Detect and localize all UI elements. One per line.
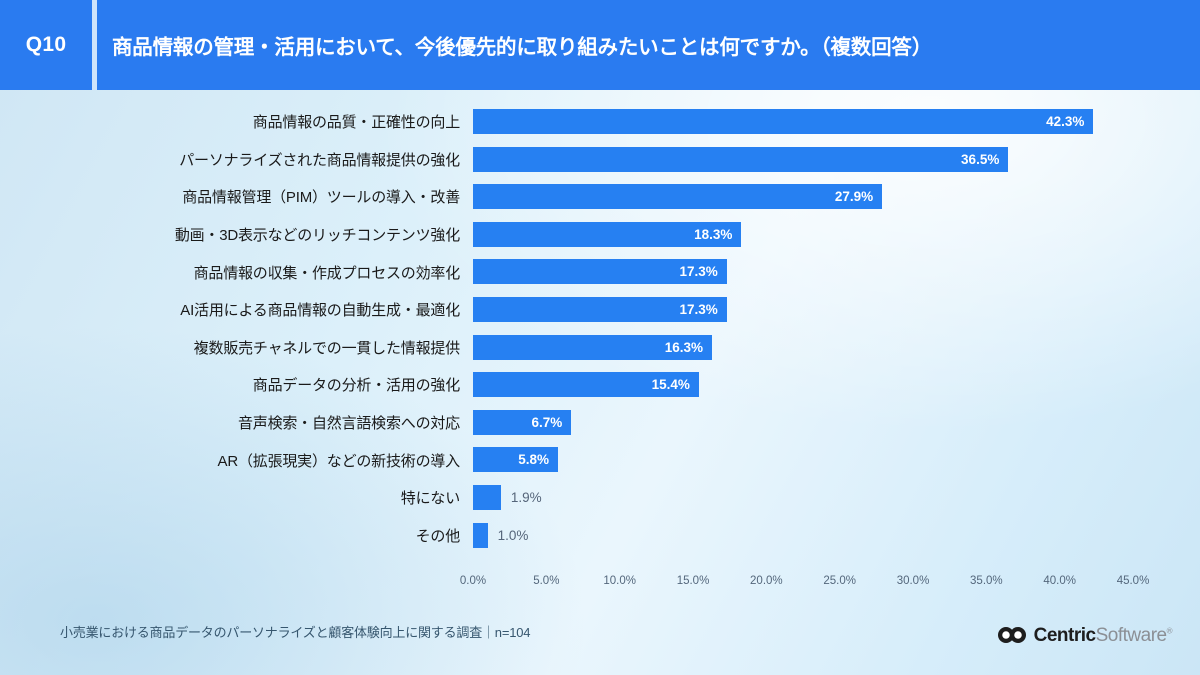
chart-row: 動画・3D表示などのリッチコンテンツ強化18.3% [0,216,1200,254]
bar-value-label: 6.7% [473,410,571,435]
chart-row: AI活用による商品情報の自動生成・最適化17.3% [0,291,1200,329]
bar-value-label: 15.4% [473,372,699,397]
header-divider [92,0,97,90]
bar-chart: 商品情報の品質・正確性の向上42.3%パーソナライズされた商品情報提供の強化36… [0,90,1200,590]
bar-value-label: 17.3% [473,297,727,322]
bar-track: 15.4% [473,366,1133,404]
bar-track: 17.3% [473,253,1133,291]
category-label: AR（拡張現実）などの新技術の導入 [60,450,460,471]
x-axis-tick: 45.0% [1117,575,1150,587]
bar[interactable] [473,523,488,548]
survey-note: 小売業における商品データのパーソナライズと顧客体験向上に関する調査｜n=104 [60,622,530,641]
category-label: 複数販売チャネルでの一貫した情報提供 [60,337,460,358]
chart-row: 音声検索・自然言語検索への対応6.7% [0,404,1200,442]
bar-value-label: 42.3% [473,109,1093,134]
category-label: 商品情報管理（PIM）ツールの導入・改善 [60,186,460,207]
category-label: 商品情報の収集・作成プロセスの効率化 [60,262,460,283]
category-label: パーソナライズされた商品情報提供の強化 [60,149,460,170]
category-label: AI活用による商品情報の自動生成・最適化 [60,299,460,320]
question-number: Q10 [0,0,92,90]
centric-logo-mark-icon [997,626,1027,644]
chart-row: 商品情報の品質・正確性の向上42.3% [0,103,1200,141]
bar-track: 5.8% [473,441,1133,479]
category-label: 商品情報の品質・正確性の向上 [60,111,460,132]
bar-track: 1.0% [473,517,1133,555]
chart-row: 商品データの分析・活用の強化15.4% [0,366,1200,404]
bar-value-label: 1.0% [488,523,529,548]
x-axis-tick: 35.0% [970,575,1003,587]
centric-software-logo: CentricSoftware® [997,622,1172,648]
chart-row: パーソナライズされた商品情報提供の強化36.5% [0,141,1200,179]
category-label: 音声検索・自然言語検索への対応 [60,412,460,433]
chart-row: 特にない1.9% [0,479,1200,517]
bar-value-label: 1.9% [501,485,542,510]
bar-value-label: 17.3% [473,259,727,284]
bar-value-label: 27.9% [473,184,882,209]
page-title: 商品情報の管理・活用において、今後優先的に取り組みたいことは何ですか。（複数回答… [112,0,1176,90]
category-label: 特にない [60,487,460,508]
bar-track: 6.7% [473,404,1133,442]
x-axis-tick: 15.0% [677,575,710,587]
chart-row: AR（拡張現実）などの新技術の導入5.8% [0,441,1200,479]
x-axis-tick: 25.0% [823,575,856,587]
bar-value-label: 18.3% [473,222,741,247]
chart-row: 商品情報管理（PIM）ツールの導入・改善27.9% [0,178,1200,216]
logo-trademark: ® [1167,626,1172,635]
bar-track: 18.3% [473,216,1133,254]
bar-value-label: 16.3% [473,335,712,360]
chart-row: 複数販売チャネルでの一貫した情報提供16.3% [0,329,1200,367]
bar-value-label: 36.5% [473,147,1008,172]
bar[interactable] [473,485,501,510]
x-axis-tick: 30.0% [897,575,930,587]
logo-primary-text: Centric [1034,625,1096,646]
chart-row: 商品情報の収集・作成プロセスの効率化17.3% [0,253,1200,291]
category-label: 動画・3D表示などのリッチコンテンツ強化 [60,224,460,245]
x-axis-tick: 40.0% [1043,575,1076,587]
logo-wordmark: CentricSoftware® [1034,626,1172,645]
x-axis-tick: 5.0% [533,575,559,587]
chart-row: その他1.0% [0,517,1200,555]
bar-track: 16.3% [473,329,1133,367]
category-label: その他 [60,525,460,546]
x-axis: 0.0%5.0%10.0%15.0%20.0%25.0%30.0%35.0%40… [473,575,1133,595]
bar-track: 1.9% [473,479,1133,517]
bar-value-label: 5.8% [473,447,558,472]
x-axis-tick: 20.0% [750,575,783,587]
x-axis-tick: 0.0% [460,575,486,587]
bar-track: 27.9% [473,178,1133,216]
bar-track: 36.5% [473,141,1133,179]
x-axis-tick: 10.0% [603,575,636,587]
category-label: 商品データの分析・活用の強化 [60,374,460,395]
bar-track: 17.3% [473,291,1133,329]
question-header: Q10 商品情報の管理・活用において、今後優先的に取り組みたいことは何ですか。（… [0,0,1200,90]
bar-track: 42.3% [473,103,1133,141]
logo-secondary-text: Software [1096,625,1167,646]
slide-root: Q10 商品情報の管理・活用において、今後優先的に取り組みたいことは何ですか。（… [0,0,1200,675]
